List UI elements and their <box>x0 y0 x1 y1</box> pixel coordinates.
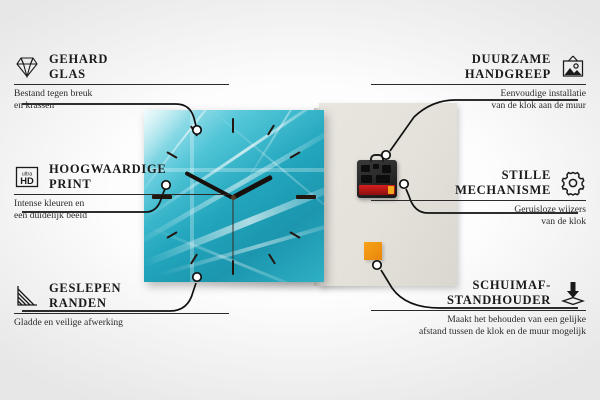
feature-title: SCHUIMAF- STANDHOUDER <box>447 278 551 307</box>
feature-description: Geruisloze wijzers van de klok <box>371 204 586 227</box>
feature-title: GEHARD GLAS <box>49 52 108 81</box>
feature-divider <box>371 200 586 201</box>
svg-text:HD: HD <box>20 175 34 186</box>
feature-description: Eenvoudige installatie van de klok aan d… <box>371 88 586 111</box>
connector-dot-schuimaf-standhouder <box>373 261 381 269</box>
feature-divider <box>371 84 586 85</box>
feature-description: Gladde en veilige afwerking <box>14 317 229 329</box>
feature-hoogwaardige-print: ultra HD HOOGWAARDIGE PRINT Intense kleu… <box>14 162 229 221</box>
infographic-canvas: GEHARD GLAS Bestand tegen breuk en krass… <box>0 0 600 400</box>
connector-dot-gehard-glas <box>193 126 201 134</box>
feature-header: STILLE MECHANISME <box>371 168 586 197</box>
feature-title: GESLEPEN RANDEN <box>49 281 121 310</box>
feature-divider <box>14 84 229 85</box>
diamond-icon <box>14 54 40 80</box>
feature-gehard-glas: GEHARD GLAS Bestand tegen breuk en krass… <box>14 52 229 111</box>
feature-title: HOOGWAARDIGE PRINT <box>49 162 166 191</box>
connector-dot-duurzame-handgreep <box>382 151 390 159</box>
bevelled-edge-icon <box>14 283 40 309</box>
down-arrow-pad-icon <box>560 280 586 306</box>
picture-frame-icon <box>560 54 586 80</box>
feature-divider <box>14 194 229 195</box>
feature-header: GESLEPEN RANDEN <box>14 281 229 310</box>
feature-divider <box>14 313 229 314</box>
feature-description: Intense kleuren en een duidelijk beeld <box>14 198 229 221</box>
feature-description: Bestand tegen breuk en krassen <box>14 88 229 111</box>
feature-title: STILLE MECHANISME <box>455 168 551 197</box>
feature-header: DUURZAME HANDGREEP <box>371 52 586 81</box>
feature-header: GEHARD GLAS <box>14 52 229 81</box>
feature-title: DUURZAME HANDGREEP <box>465 52 551 81</box>
feature-divider <box>371 310 586 311</box>
gear-icon <box>560 170 586 196</box>
feature-description: Maakt het behouden van een gelijke afsta… <box>371 314 586 337</box>
feature-header: ultra HD HOOGWAARDIGE PRINT <box>14 162 229 191</box>
feature-geslepen-randen: GESLEPEN RANDEN Gladde en veilige afwerk… <box>14 281 229 329</box>
feature-schuimaf-standhouder: SCHUIMAF- STANDHOUDER Maakt het behouden… <box>371 278 586 337</box>
feature-header: SCHUIMAF- STANDHOUDER <box>371 278 586 307</box>
ultra-hd-icon: ultra HD <box>14 164 40 190</box>
connector-dot-geslepen-randen <box>193 273 201 281</box>
feature-stille-mechanisme: STILLE MECHANISME Geruisloze wijzers van… <box>371 168 586 227</box>
feature-duurzame-handgreep: DUURZAME HANDGREEP Eenvoudige installati… <box>371 52 586 111</box>
